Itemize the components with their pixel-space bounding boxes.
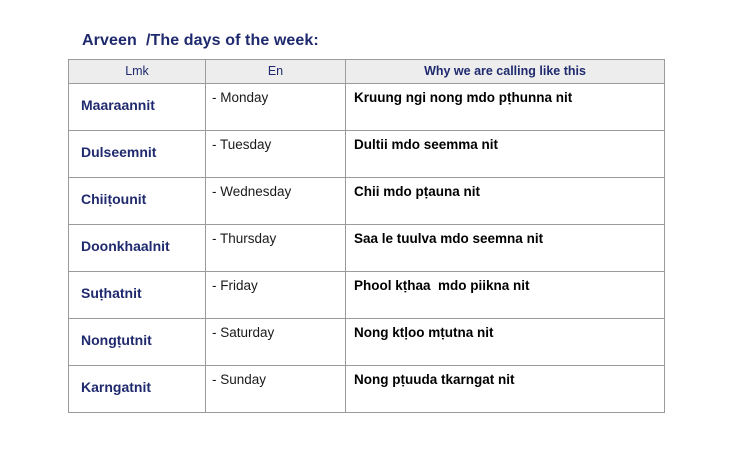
cell-en: - Tuesday — [206, 131, 346, 178]
cell-lmk: Dulseemnit — [69, 131, 206, 178]
table-row: Karngatnit - Sunday Nong pṭuuda tkarngat… — [69, 366, 665, 413]
cell-en: - Saturday — [206, 319, 346, 366]
cell-lmk: Chiiṭounit — [69, 178, 206, 225]
column-header-lmk: Lmk — [69, 60, 206, 84]
cell-lmk: Doonkhaalnit — [69, 225, 206, 272]
table-row: Chiiṭounit - Wednesday Chii mdo pṭauna n… — [69, 178, 665, 225]
cell-en: - Thursday — [206, 225, 346, 272]
table-header-row: Lmk En Why we are calling like this — [69, 60, 665, 84]
cell-en: - Friday — [206, 272, 346, 319]
table-row: Doonkhaalnit - Thursday Saa le tuulva md… — [69, 225, 665, 272]
cell-en: - Wednesday — [206, 178, 346, 225]
cell-why: Kruung ngi nong mdo pṭhunna nit — [346, 84, 665, 131]
table-row: Dulseemnit - Tuesday Dultii mdo seemma n… — [69, 131, 665, 178]
table-row: Maaraannit - Monday Kruung ngi nong mdo … — [69, 84, 665, 131]
cell-why: Dultii mdo seemma nit — [346, 131, 665, 178]
table-header: Lmk En Why we are calling like this — [69, 60, 665, 84]
table-row: Nongṭutnit - Saturday Nong ktḷoo mṭutna … — [69, 319, 665, 366]
cell-why: Chii mdo pṭauna nit — [346, 178, 665, 225]
cell-lmk: Karngatnit — [69, 366, 206, 413]
cell-en: - Sunday — [206, 366, 346, 413]
cell-lmk: Nongṭutnit — [69, 319, 206, 366]
table-body: Maaraannit - Monday Kruung ngi nong mdo … — [69, 84, 665, 413]
cell-lmk: Suṭhatnit — [69, 272, 206, 319]
cell-why: Phool kṭhaa mdo piikna nit — [346, 272, 665, 319]
days-of-the-week-table: Lmk En Why we are calling like this Maar… — [68, 59, 665, 413]
cell-lmk: Maaraannit — [69, 84, 206, 131]
column-header-en: En — [206, 60, 346, 84]
cell-why: Nong pṭuuda tkarngat nit — [346, 366, 665, 413]
cell-en: - Monday — [206, 84, 346, 131]
cell-why: Nong ktḷoo mṭutna nit — [346, 319, 665, 366]
cell-why: Saa le tuulva mdo seemna nit — [346, 225, 665, 272]
page-title: Arveen /The days of the week: — [82, 32, 319, 50]
slide-canvas: Arveen /The days of the week: Lmk En Why… — [0, 0, 750, 472]
column-header-why: Why we are calling like this — [346, 60, 665, 84]
table-row: Suṭhatnit - Friday Phool kṭhaa mdo piikn… — [69, 272, 665, 319]
